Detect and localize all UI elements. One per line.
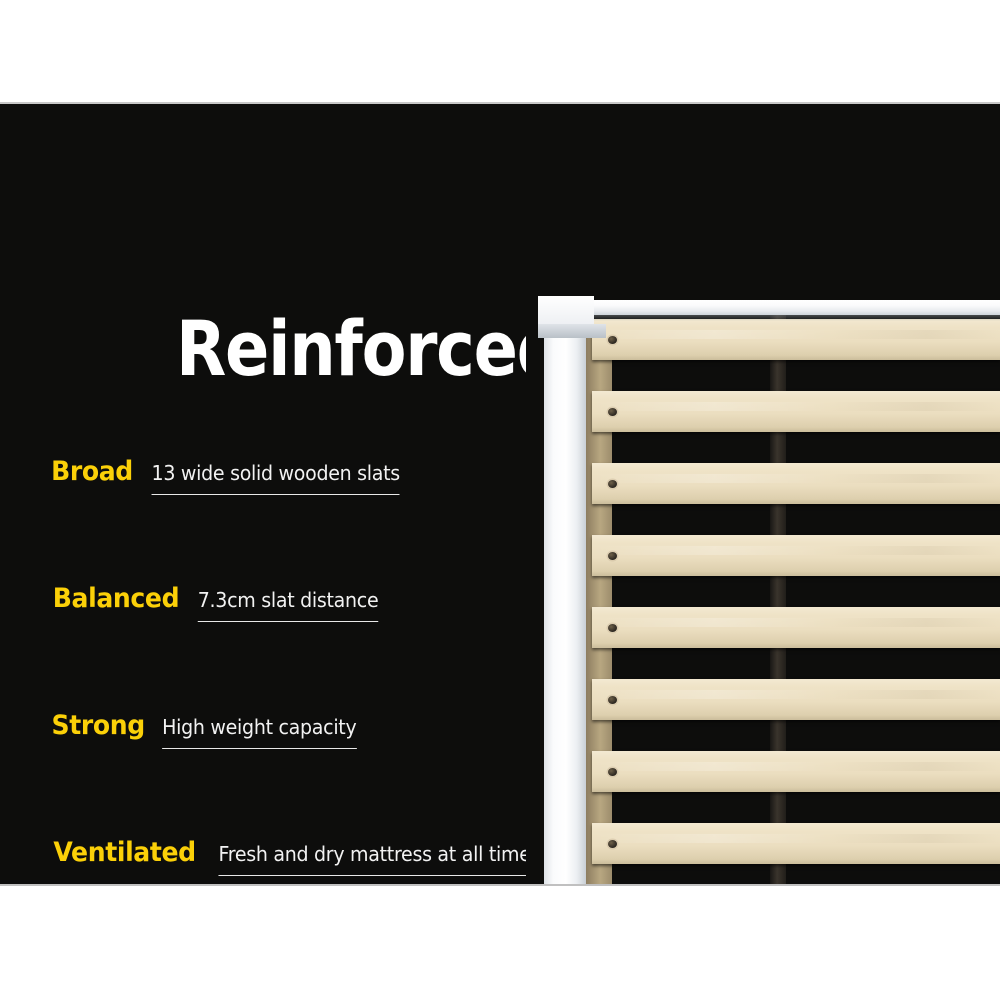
feature-description: High weight capacity	[162, 715, 356, 749]
top-frame-rail-shadow	[568, 315, 1000, 321]
wooden-slat	[592, 607, 1000, 648]
screw-icon	[608, 552, 617, 560]
top-frame-rail	[568, 300, 1000, 315]
feature-label: Broad	[51, 456, 133, 487]
product-photo	[526, 104, 1000, 884]
bottom-white-margin	[0, 886, 1000, 1000]
corner-post-bevel	[538, 324, 606, 338]
screw-icon	[608, 768, 617, 776]
feature-description: Fresh and dry mattress at all times	[219, 842, 541, 876]
screw-icon	[608, 336, 617, 344]
wooden-slat	[592, 751, 1000, 792]
feature-item-balanced: Balanced 7.3cm slat distance	[48, 583, 548, 710]
feature-item-ventilated: Ventilated Fresh and dry mattress at all…	[48, 837, 548, 884]
wooden-slat	[592, 535, 1000, 576]
feature-label: Balanced	[53, 583, 179, 614]
corner-post-cap	[538, 296, 594, 324]
wooden-slat	[592, 391, 1000, 432]
product-feature-graphic: Reinforced thick slats Broad 13 wide sol…	[0, 0, 1000, 1000]
feature-item-broad: Broad 13 wide solid wooden slats	[48, 456, 548, 583]
wooden-slat	[592, 823, 1000, 864]
feature-label: Strong	[52, 710, 145, 741]
wooden-slat	[592, 319, 1000, 360]
feature-description: 13 wide solid wooden slats	[152, 461, 400, 495]
corner-post	[544, 316, 586, 884]
screw-icon	[608, 408, 617, 416]
wooden-slat	[592, 463, 1000, 504]
screw-icon	[608, 696, 617, 704]
wooden-slat	[592, 679, 1000, 720]
screw-icon	[608, 480, 617, 488]
feature-list: Broad 13 wide solid wooden slats Balance…	[48, 456, 548, 884]
feature-description: 7.3cm slat distance	[198, 588, 379, 622]
feature-item-strong: Strong High weight capacity	[48, 710, 548, 837]
screw-icon	[608, 840, 617, 848]
screw-icon	[608, 624, 617, 632]
feature-label: Ventilated	[53, 837, 195, 868]
top-white-margin	[0, 0, 1000, 102]
